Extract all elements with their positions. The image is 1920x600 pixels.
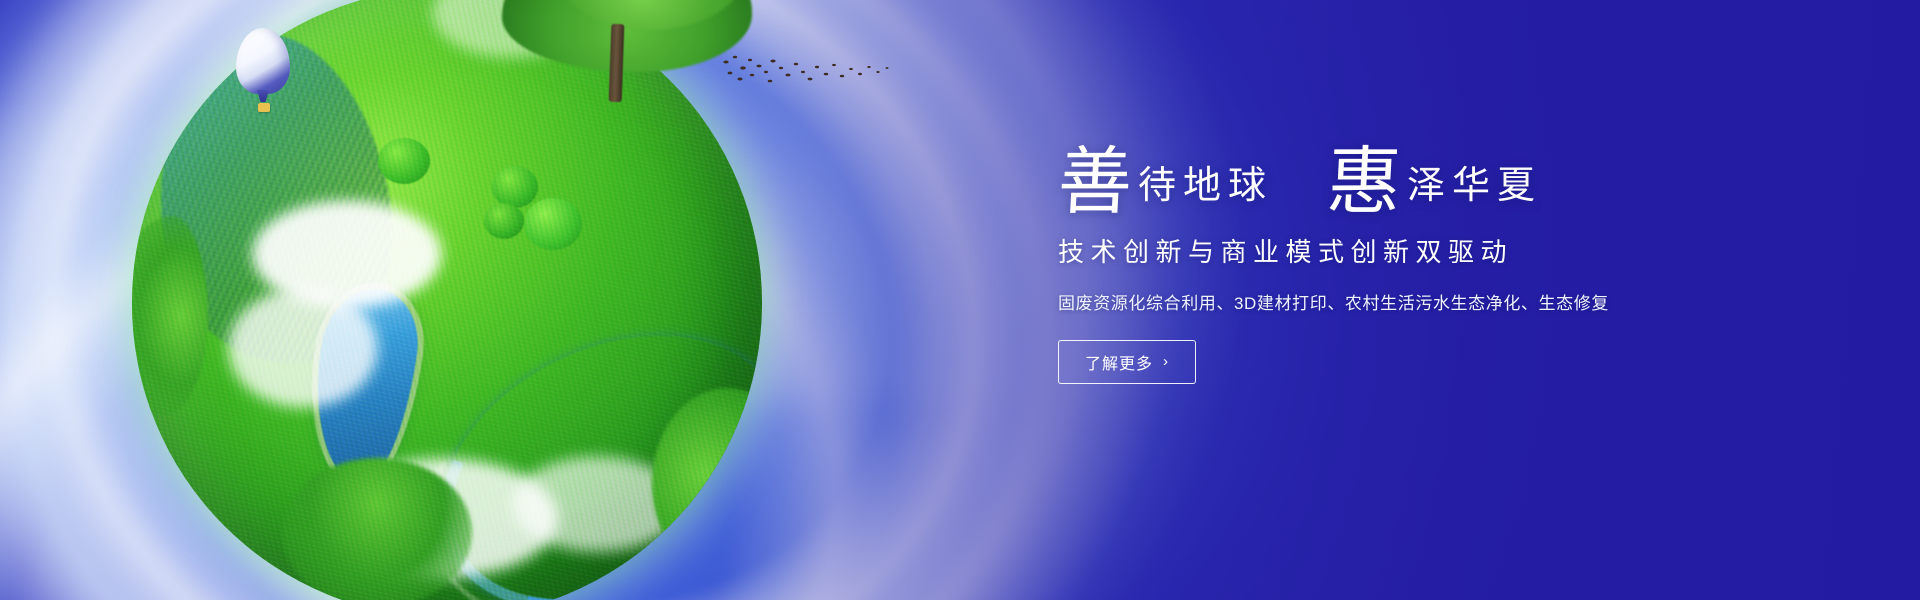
cloud-icon <box>328 458 558 578</box>
cloud-icon <box>228 288 378 408</box>
tree-icon <box>484 203 524 239</box>
tree-icon <box>492 166 538 208</box>
large-tree-trunk <box>609 24 625 102</box>
subheadline: 技术创新与商业模式创新双驱动 <box>1058 232 1738 269</box>
hot-air-balloon-icon <box>236 28 292 120</box>
headline-group-2: 惠 泽华夏 <box>1327 147 1542 218</box>
headline-group-1: 善 待地球 <box>1058 147 1273 218</box>
tree-icon <box>132 216 208 416</box>
chevron-right-icon: › <box>1163 354 1169 369</box>
description-text: 固废资源化综合利用、3D建材打印、农村生活污水生态净化、生态修复 <box>1058 289 1738 314</box>
tree-icon <box>378 138 430 184</box>
hero-banner: 善 待地球 惠 泽华夏 技术创新与商业模式创新双驱动 固废资源化综合利用、3D建… <box>0 0 1920 600</box>
headline-char-large: 惠 <box>1325 147 1403 218</box>
cloud-icon <box>512 456 682 552</box>
learn-more-label: 了解更多 <box>1085 350 1153 374</box>
river-icon <box>395 282 762 600</box>
cloud-icon <box>252 200 442 308</box>
headline-char-large: 善 <box>1056 147 1134 218</box>
balloon-neck <box>257 90 269 102</box>
headline-chars-small: 待地球 <box>1138 157 1273 218</box>
lake-icon <box>303 282 425 489</box>
learn-more-button[interactable]: 了解更多 › <box>1058 340 1196 384</box>
headline-chars-small: 泽华夏 <box>1407 157 1542 218</box>
bird-flock-icon <box>718 48 898 104</box>
river-bank <box>378 268 762 600</box>
headline: 善 待地球 惠 泽华夏 <box>1058 132 1738 218</box>
balloon-envelope <box>236 28 290 94</box>
tree-icon <box>652 388 762 578</box>
earth-globe-image <box>132 0 762 600</box>
banner-content: 善 待地球 惠 泽华夏 技术创新与商业模式创新双驱动 固废资源化综合利用、3D建… <box>1058 132 1738 384</box>
balloon-basket <box>258 103 270 112</box>
tree-icon <box>282 458 472 600</box>
globe-sphere <box>132 0 762 600</box>
tree-icon <box>524 198 582 250</box>
